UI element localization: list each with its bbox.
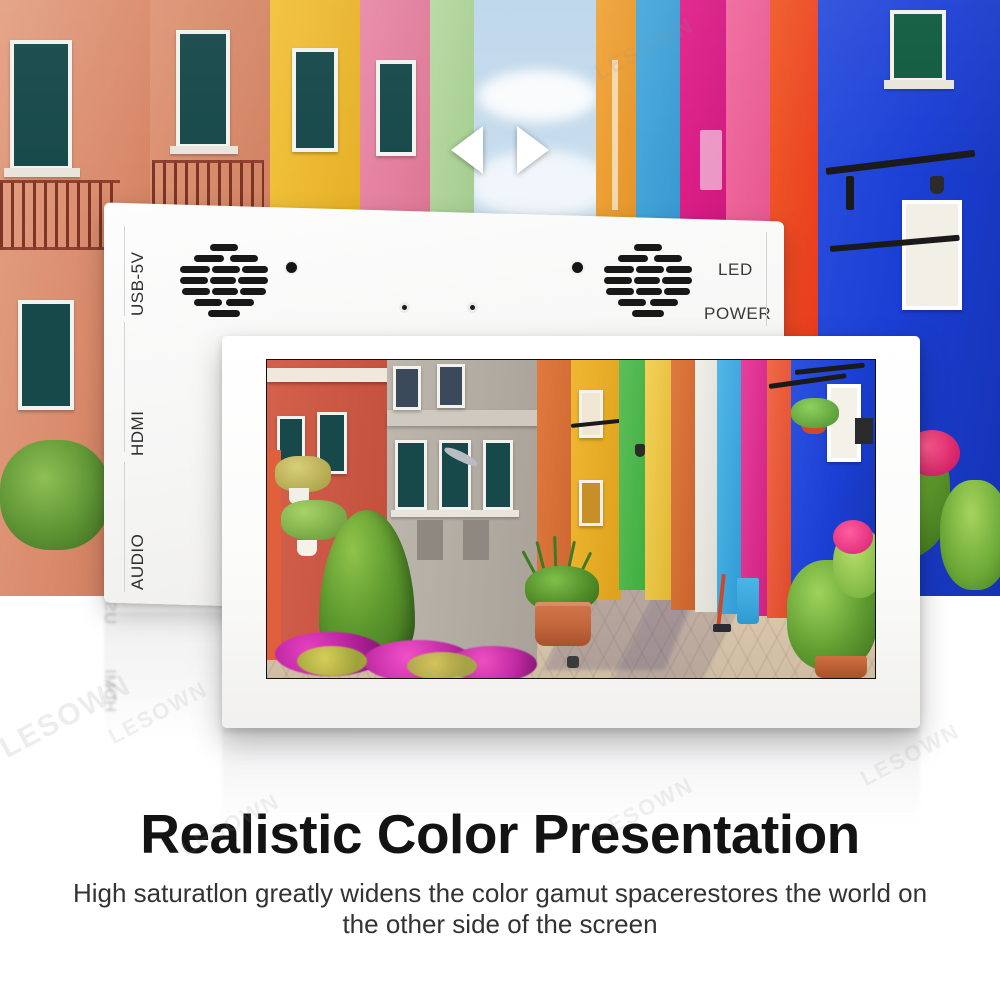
cloud-shape [478, 70, 598, 122]
scene-flower-cluster [833, 520, 873, 554]
iron-bracket-post [846, 176, 854, 210]
port-label-usb: USB-5V [128, 252, 148, 316]
scene-wall-box [855, 418, 873, 444]
scene-building-green [619, 360, 645, 590]
scene-window [393, 366, 421, 410]
balcony-railing [0, 180, 120, 250]
scene-building-white [695, 360, 717, 612]
scene-window [437, 364, 465, 408]
scene-terracotta-pot [535, 602, 591, 646]
marketing-copy: Realistic Color Presentation High satura… [0, 806, 1000, 941]
scene-hanging-plant [275, 456, 331, 492]
sensor-dot [286, 262, 297, 273]
next-arrow-icon[interactable] [517, 126, 549, 174]
scene-building-orange-2 [671, 360, 695, 610]
port-label-hdmi: HDMI [128, 411, 148, 456]
screw-hole [470, 305, 475, 310]
sensor-dot [572, 262, 583, 273]
speaker-grille-left [178, 244, 270, 322]
headline-text: Realistic Color Presentation [0, 806, 1000, 864]
prev-arrow-icon[interactable] [451, 126, 483, 174]
scene-ground-object [567, 656, 579, 668]
scene-hanging-plant [791, 398, 839, 428]
carousel-nav [0, 120, 1000, 180]
scene-window [395, 440, 427, 510]
scene-flowerpot [815, 656, 867, 678]
scene-foliage-yellow [297, 646, 367, 676]
scene-lamp-icon [635, 444, 645, 457]
scene-foliage-yellow [407, 652, 477, 679]
hanging-plant [940, 480, 1000, 590]
window [890, 10, 946, 82]
reflection-label-hdmi: HDMI [100, 669, 118, 712]
speaker-grille-right [602, 244, 694, 322]
product-marketing-image: USB HDMI USB-5V HDMI AUDIO [0, 0, 1000, 1000]
screw-hole [402, 305, 407, 310]
scene-blue-bin [737, 578, 759, 624]
port-divider [124, 462, 125, 592]
indicator-label-led: LED [718, 260, 753, 280]
display-screen[interactable] [266, 359, 876, 679]
scene-window-sill [391, 510, 519, 517]
scene-lower-window [417, 520, 443, 560]
scene-broom-head [713, 624, 731, 632]
indicator-divider [766, 232, 767, 326]
scene-ledge [387, 410, 539, 426]
port-label-audio: AUDIO [128, 534, 148, 590]
scene-window [579, 480, 603, 526]
screen-scene [267, 360, 875, 678]
door [902, 200, 962, 310]
scene-cornice [267, 368, 391, 382]
window [18, 300, 74, 410]
port-divider [124, 226, 125, 316]
scene-flowerpot [297, 540, 317, 556]
scene-window [579, 390, 603, 438]
scene-building-coral [767, 360, 791, 618]
indicator-label-power: POWER [704, 304, 771, 324]
window-sill [884, 80, 954, 89]
front-monitor-unit [222, 336, 920, 728]
port-divider [124, 322, 125, 452]
hanging-plant [0, 440, 110, 550]
scene-building-gold [645, 360, 671, 600]
scene-lower-window [463, 520, 489, 560]
subcopy-text: High saturatlon greatly widens the color… [0, 878, 1000, 941]
scene-window [483, 440, 513, 510]
